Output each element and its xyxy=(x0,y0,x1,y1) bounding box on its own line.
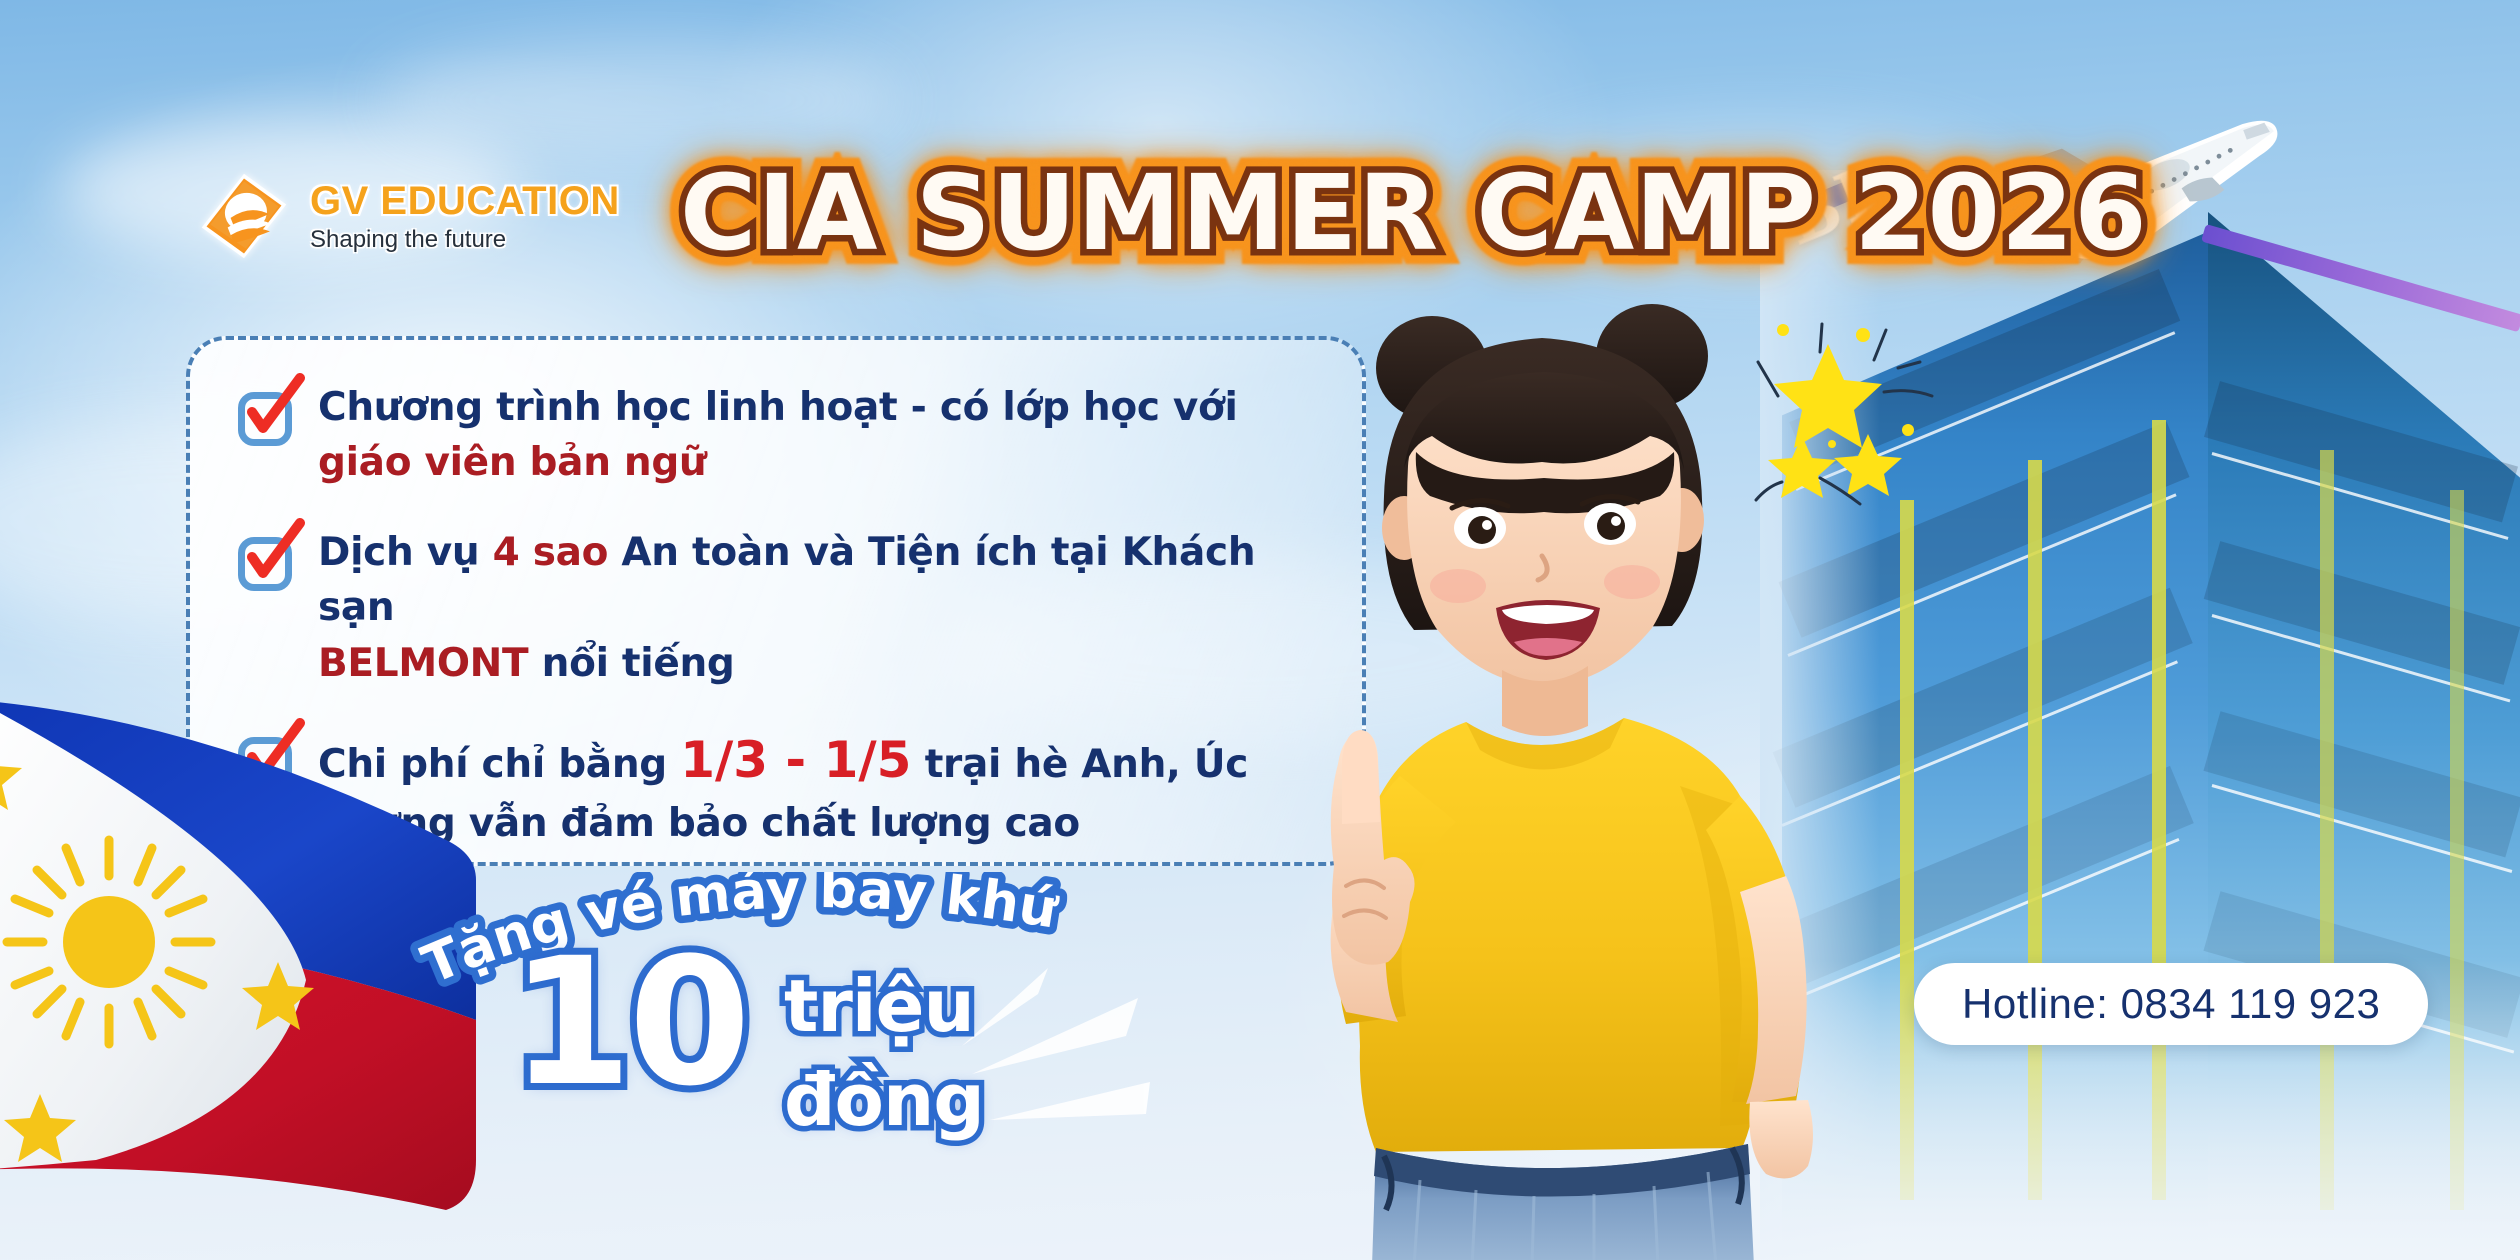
gv-swirl-logo-icon xyxy=(196,168,292,264)
feature-item: Chương trình học linh hoạt - có lớp học … xyxy=(234,380,1318,491)
feature-line: Dịch vụ 4 sao An toàn và Tiện ích tại Kh… xyxy=(318,525,1318,636)
hotline-badge[interactable]: Hotline: 0834 119 923 xyxy=(1914,963,2428,1045)
checkbox-checked-icon xyxy=(234,386,296,448)
feature-seg-highlight: 4 sao xyxy=(493,530,609,575)
promo-amount: 10 xyxy=(510,920,747,1125)
check-mark-icon xyxy=(232,517,308,593)
promo-unit-line1: triệu xyxy=(784,964,974,1048)
feature-line: BELMONT nổi tiếng xyxy=(318,636,1318,691)
brand-name: GV EDUCATION xyxy=(310,181,620,221)
brand-tagline: Shaping the future xyxy=(310,228,620,252)
promo-badge: Tặng vé máy bay khứ hồi trị giá 10 triệu… xyxy=(402,872,1102,1172)
checkbox-checked-icon xyxy=(234,531,296,593)
feature-seg-highlight: BELMONT xyxy=(318,641,528,686)
feature-seg-fraction: 1/3 - 1/5 xyxy=(680,731,911,789)
promo-banner: BELMONT HOTEL xyxy=(0,0,2520,1260)
brand-logo[interactable]: GV EDUCATION Shaping the future xyxy=(196,168,620,264)
feature-text: Dịch vụ 4 sao An toàn và Tiện ích tại Kh… xyxy=(318,525,1318,691)
feature-item: Dịch vụ 4 sao An toàn và Tiện ích tại Kh… xyxy=(234,525,1318,691)
feature-seg: trại hè Anh, Úc xyxy=(911,742,1248,787)
promo-unit-line2: đồng xyxy=(784,1058,984,1142)
cloud-decoration xyxy=(380,40,900,160)
feature-line-highlight: giáo viên bản ngữ xyxy=(318,435,1238,490)
feature-text: Chương trình học linh hoạt - có lớp học … xyxy=(318,380,1238,491)
check-mark-icon xyxy=(232,372,308,448)
feature-line: Chương trình học linh hoạt - có lớp học … xyxy=(318,380,1238,435)
promo-arc-text: Tặng vé máy bay khứ hồi trị giá xyxy=(402,872,1102,1022)
smiling-girl-pointing-icon xyxy=(1280,256,1960,1260)
feature-seg: Dịch vụ xyxy=(318,530,493,575)
feature-seg: nổi tiếng xyxy=(528,641,734,686)
